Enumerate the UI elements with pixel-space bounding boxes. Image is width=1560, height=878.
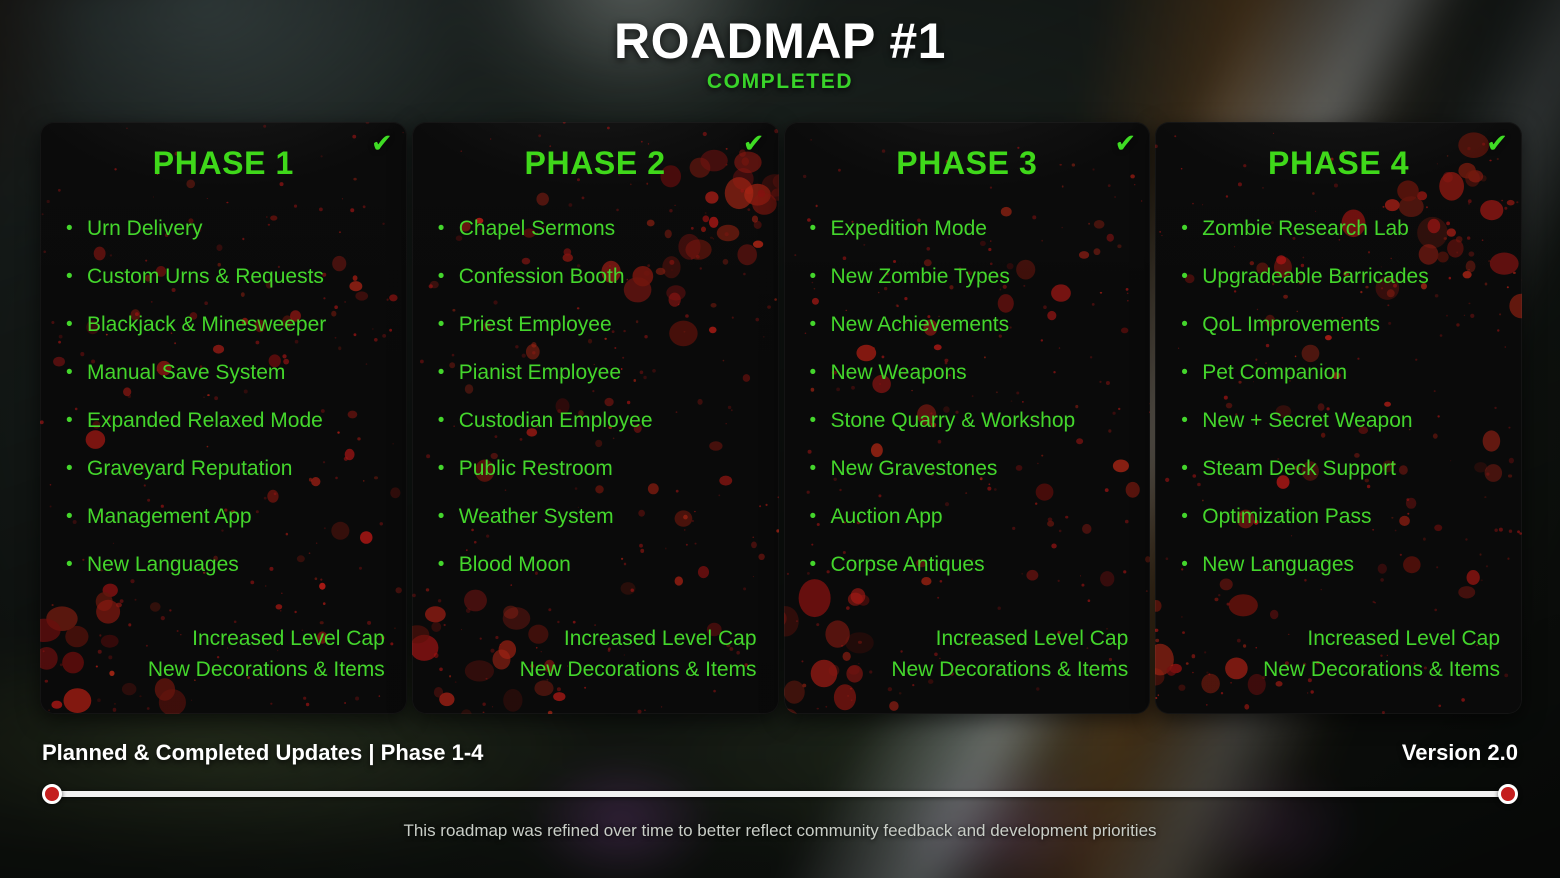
check-icon: ✔ (1114, 130, 1136, 156)
bullet-icon: • (810, 315, 817, 334)
timeline-track (51, 791, 1509, 797)
list-item: •New Languages (1202, 554, 1522, 575)
list-item-label: Steam Deck Support (1202, 457, 1396, 480)
bullet-icon: • (438, 411, 445, 430)
check-icon: ✔ (743, 130, 765, 156)
bullet-icon: • (1181, 315, 1188, 334)
phase-card-footer: Increased Level CapNew Decorations & Ite… (430, 624, 757, 686)
list-item-label: Optimization Pass (1202, 505, 1371, 528)
list-item-label: Confession Booth (459, 265, 625, 288)
timeline-marker-start (42, 784, 62, 804)
phase-feature-list: •Chapel Sermons•Confession Booth•Priest … (412, 218, 779, 575)
bullet-icon: • (66, 555, 73, 574)
phase-feature-list: •Expedition Mode•New Zombie Types•New Ac… (784, 218, 1151, 575)
phase-title: PHASE 3 (784, 145, 1151, 182)
bullet-icon: • (438, 219, 445, 238)
list-item: •Management App (87, 506, 407, 527)
list-item: •Pet Companion (1202, 362, 1522, 383)
bullet-icon: • (66, 411, 73, 430)
bullet-icon: • (810, 555, 817, 574)
list-item: •Chapel Sermons (459, 218, 779, 239)
list-item-label: Corpse Antiques (831, 553, 985, 576)
bullet-icon: • (1181, 363, 1188, 382)
list-item-label: New Zombie Types (831, 265, 1010, 288)
list-item-label: New Languages (1202, 553, 1354, 576)
list-item: •Corpse Antiques (831, 554, 1151, 575)
phase-title: PHASE 4 (1155, 145, 1522, 182)
bullet-icon: • (438, 363, 445, 382)
list-item: •QoL Improvements (1202, 314, 1522, 335)
phase-footer-line: New Decorations & Items (430, 655, 757, 686)
list-item-label: New Achievements (831, 313, 1010, 336)
list-item: •Auction App (831, 506, 1151, 527)
list-item: •Graveyard Reputation (87, 458, 407, 479)
phase-title: PHASE 1 (40, 145, 407, 182)
bullet-icon: • (1181, 459, 1188, 478)
bullet-icon: • (66, 507, 73, 526)
bullet-icon: • (810, 459, 817, 478)
phase-footer-line: New Decorations & Items (58, 655, 385, 686)
list-item: •New + Secret Weapon (1202, 410, 1522, 431)
roadmap-page: ROADMAP #1 COMPLETED ✔PHASE 1•Urn Delive… (0, 0, 1560, 878)
phase-footer-line: Increased Level Cap (430, 624, 757, 655)
phase-card-footer: Increased Level CapNew Decorations & Ite… (1173, 624, 1500, 686)
bullet-icon: • (1181, 507, 1188, 526)
phase-footer-line: Increased Level Cap (58, 624, 385, 655)
list-item: •Priest Employee (459, 314, 779, 335)
list-item: •New Zombie Types (831, 266, 1151, 287)
phase-feature-list: •Urn Delivery•Custom Urns & Requests•Bla… (40, 218, 407, 575)
list-item-label: QoL Improvements (1202, 313, 1380, 336)
list-item-label: Pianist Employee (459, 361, 621, 384)
list-item-label: Custom Urns & Requests (87, 265, 324, 288)
bullet-icon: • (66, 315, 73, 334)
list-item-label: Expanded Relaxed Mode (87, 409, 323, 432)
list-item-label: New Gravestones (831, 457, 998, 480)
list-item: •Custodian Employee (459, 410, 779, 431)
list-item: •Blood Moon (459, 554, 779, 575)
list-item: •New Weapons (831, 362, 1151, 383)
bullet-icon: • (438, 267, 445, 286)
list-item: •Steam Deck Support (1202, 458, 1522, 479)
bullet-icon: • (438, 507, 445, 526)
bullet-icon: • (810, 219, 817, 238)
list-item: •Weather System (459, 506, 779, 527)
list-item-label: Zombie Research Lab (1202, 217, 1409, 240)
page-header: ROADMAP #1 COMPLETED (0, 14, 1560, 94)
page-title: ROADMAP #1 (0, 14, 1560, 68)
list-item-label: Pet Companion (1202, 361, 1347, 384)
list-item-label: Expedition Mode (831, 217, 987, 240)
bullet-icon: • (1181, 411, 1188, 430)
list-item: •Public Restroom (459, 458, 779, 479)
phase-card-3[interactable]: ✔PHASE 3•Expedition Mode•New Zombie Type… (784, 122, 1151, 714)
list-item-label: Public Restroom (459, 457, 613, 480)
bullet-icon: • (1181, 555, 1188, 574)
list-item: •New Achievements (831, 314, 1151, 335)
list-item: •Manual Save System (87, 362, 407, 383)
phase-card-row: ✔PHASE 1•Urn Delivery•Custom Urns & Requ… (40, 122, 1522, 714)
bullet-icon: • (438, 555, 445, 574)
timeline-marker-end (1498, 784, 1518, 804)
list-item-label: New + Secret Weapon (1202, 409, 1412, 432)
list-item: •Optimization Pass (1202, 506, 1522, 527)
list-item: •Expanded Relaxed Mode (87, 410, 407, 431)
page-subtitle: COMPLETED (0, 70, 1560, 94)
list-item-label: Priest Employee (459, 313, 612, 336)
list-item: •Stone Quarry & Workshop (831, 410, 1151, 431)
phase-title: PHASE 2 (412, 145, 779, 182)
footnote-caption: This roadmap was refined over time to be… (0, 821, 1560, 841)
bullet-icon: • (66, 267, 73, 286)
list-item-label: New Weapons (831, 361, 967, 384)
list-item: •Zombie Research Lab (1202, 218, 1522, 239)
list-item-label: Management App (87, 505, 252, 528)
list-item: •Pianist Employee (459, 362, 779, 383)
list-item: •New Gravestones (831, 458, 1151, 479)
bullet-icon: • (1181, 219, 1188, 238)
bullet-icon: • (66, 363, 73, 382)
list-item-label: Weather System (459, 505, 614, 528)
list-item: •Custom Urns & Requests (87, 266, 407, 287)
bottom-label-row: Planned & Completed Updates | Phase 1-4 … (0, 740, 1560, 766)
list-item: •Urn Delivery (87, 218, 407, 239)
bottom-bar: Planned & Completed Updates | Phase 1-4 … (0, 740, 1560, 841)
list-item-label: Graveyard Reputation (87, 457, 292, 480)
list-item-label: Upgradeable Barricades (1202, 265, 1428, 288)
bullet-icon: • (66, 219, 73, 238)
phase-card-1[interactable]: ✔PHASE 1•Urn Delivery•Custom Urns & Requ… (40, 122, 407, 714)
list-item: •Upgradeable Barricades (1202, 266, 1522, 287)
bullet-icon: • (810, 507, 817, 526)
list-item: •New Languages (87, 554, 407, 575)
list-item: •Expedition Mode (831, 218, 1151, 239)
list-item-label: Urn Delivery (87, 217, 203, 240)
updates-range-label: Planned & Completed Updates | Phase 1-4 (42, 740, 483, 766)
phase-feature-list: •Zombie Research Lab•Upgradeable Barrica… (1155, 218, 1522, 575)
list-item: •Blackjack & Minesweeper (87, 314, 407, 335)
check-icon: ✔ (1486, 130, 1508, 156)
phase-card-2[interactable]: ✔PHASE 2•Chapel Sermons•Confession Booth… (412, 122, 779, 714)
phase-card-footer: Increased Level CapNew Decorations & Ite… (58, 624, 385, 686)
phase-footer-line: Increased Level Cap (1173, 624, 1500, 655)
bullet-icon: • (438, 459, 445, 478)
list-item-label: Blood Moon (459, 553, 571, 576)
bullet-icon: • (810, 363, 817, 382)
phase-footer-line: New Decorations & Items (802, 655, 1129, 686)
timeline-bar (42, 784, 1518, 804)
list-item-label: Manual Save System (87, 361, 285, 384)
list-item-label: Blackjack & Minesweeper (87, 313, 326, 336)
bullet-icon: • (438, 315, 445, 334)
bullet-icon: • (1181, 267, 1188, 286)
list-item-label: Stone Quarry & Workshop (831, 409, 1076, 432)
check-icon: ✔ (371, 130, 393, 156)
list-item-label: Auction App (831, 505, 943, 528)
phase-card-footer: Increased Level CapNew Decorations & Ite… (802, 624, 1129, 686)
version-label: Version 2.0 (1402, 740, 1518, 766)
phase-footer-line: Increased Level Cap (802, 624, 1129, 655)
phase-card-4[interactable]: ✔PHASE 4•Zombie Research Lab•Upgradeable… (1155, 122, 1522, 714)
bullet-icon: • (66, 459, 73, 478)
list-item-label: Custodian Employee (459, 409, 653, 432)
bullet-icon: • (810, 267, 817, 286)
list-item: •Confession Booth (459, 266, 779, 287)
bullet-icon: • (810, 411, 817, 430)
list-item-label: Chapel Sermons (459, 217, 615, 240)
list-item-label: New Languages (87, 553, 239, 576)
phase-footer-line: New Decorations & Items (1173, 655, 1500, 686)
